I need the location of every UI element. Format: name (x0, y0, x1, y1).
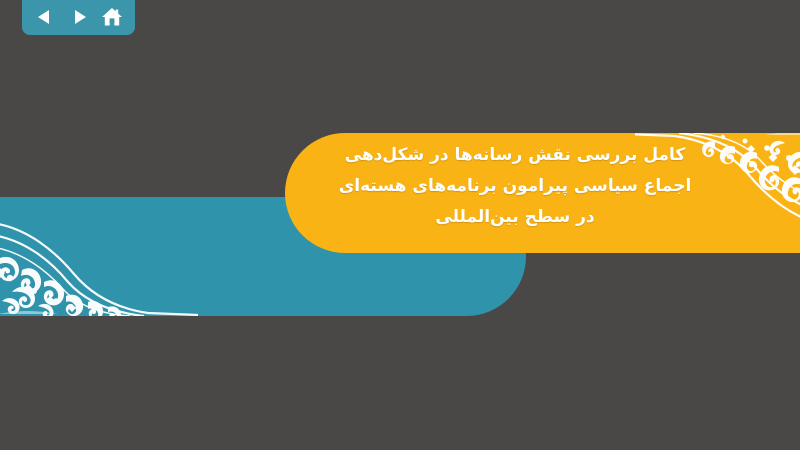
slide-canvas: کامل بررسی نقش رسانه‌ها در شکل‌دهی اجماع… (0, 0, 800, 450)
arabesque-islimi-ornament (635, 133, 800, 253)
previous-slide-button[interactable] (33, 5, 57, 29)
next-slide-button[interactable] (67, 5, 91, 29)
navigation-bar (22, 0, 135, 35)
orange-title-band (285, 133, 800, 253)
home-button[interactable] (100, 5, 124, 29)
triangle-left-icon (35, 7, 55, 27)
home-icon (101, 6, 123, 28)
arabesque-islimi-ornament (0, 197, 198, 316)
triangle-right-icon (69, 7, 89, 27)
